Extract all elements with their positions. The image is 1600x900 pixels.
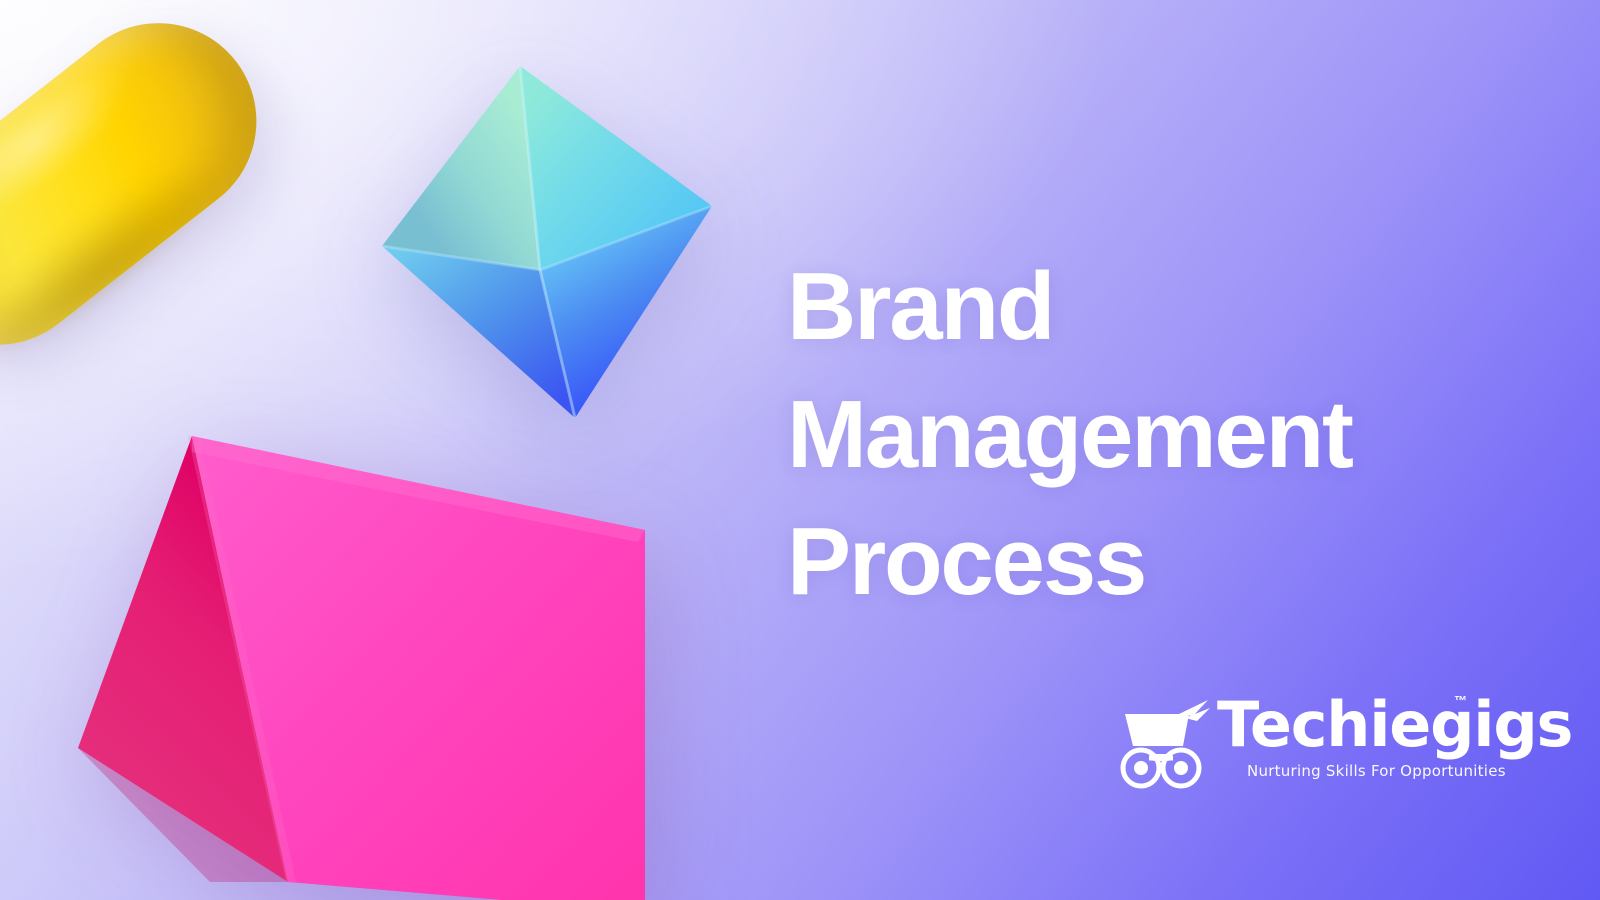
title-line-2: Management xyxy=(787,371,1527,499)
title-line-1: Brand xyxy=(787,243,1527,371)
trademark-symbol: ™ xyxy=(1454,694,1467,707)
title-line-3: Process xyxy=(787,498,1527,626)
yellow-capsule-shape xyxy=(0,0,296,384)
brand-logo: Techiegigs ™ Nurturing Skills For Opport… xyxy=(1113,688,1463,794)
blue-octahedron-shape xyxy=(372,58,720,426)
pink-cube-shape xyxy=(60,412,680,900)
logo-tagline: Nurturing Skills For Opportunities xyxy=(1247,764,1506,779)
logo-wordmark: Techiegigs xyxy=(1217,694,1572,756)
banner-canvas: Brand Management Process xyxy=(0,0,1600,900)
page-title: Brand Management Process xyxy=(787,243,1527,626)
techiegigs-cart-icon xyxy=(1113,692,1213,792)
